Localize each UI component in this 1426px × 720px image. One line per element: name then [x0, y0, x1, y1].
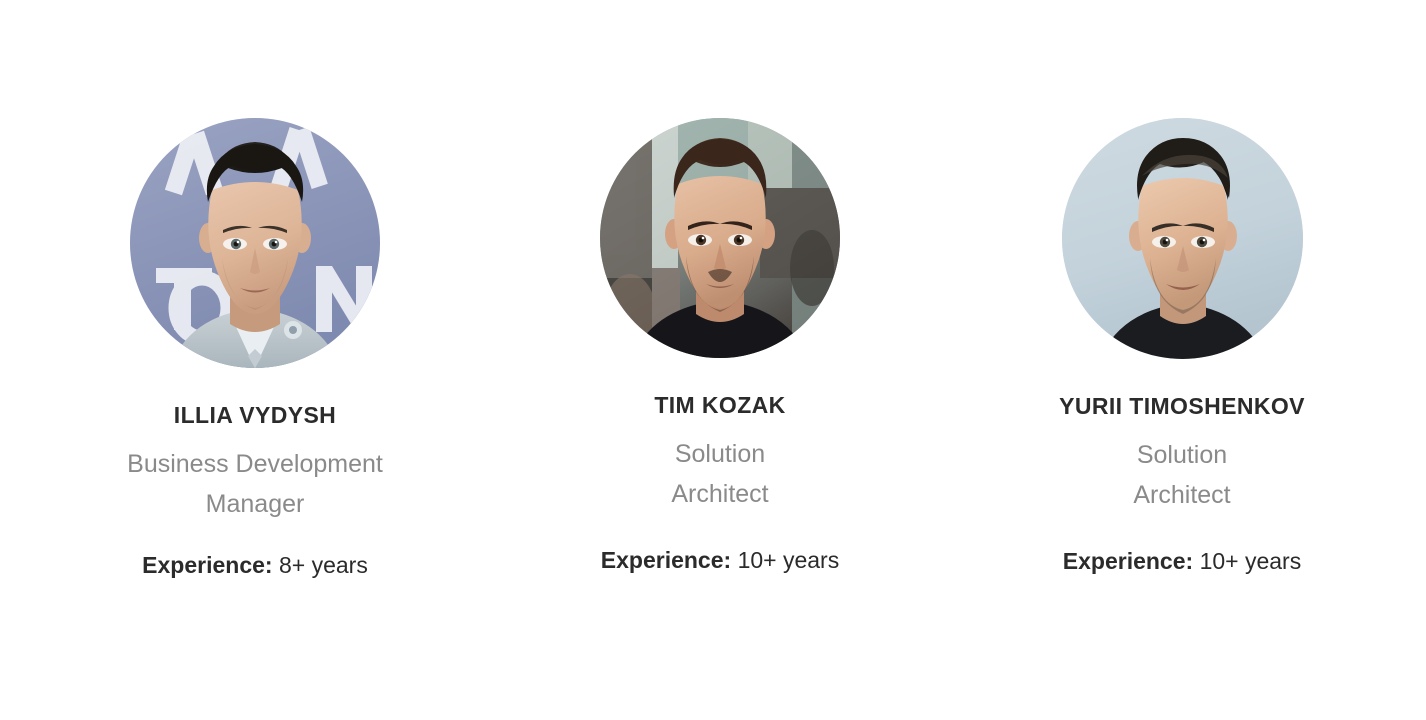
avatar: [1062, 118, 1303, 359]
member-role-line: Business Development: [55, 444, 455, 484]
experience-label: Experience:: [601, 547, 731, 573]
member-role-line: Manager: [55, 484, 455, 524]
member-role-line: Solution: [520, 434, 920, 474]
member-role: Solution Architect: [520, 434, 920, 514]
avatar: [600, 118, 840, 358]
experience-value: 10+ years: [738, 547, 840, 573]
member-name: ILLIA VYDYSH: [55, 402, 455, 430]
avatar-photo-yurii-timoshenkov: [1062, 118, 1303, 359]
member-name: TIM KOZAK: [520, 392, 920, 420]
team-members-section: ILLIA VYDYSH Business Development Manage…: [0, 0, 1426, 720]
member-role-line: Solution: [982, 435, 1382, 475]
experience-label: Experience:: [1063, 548, 1193, 574]
avatar-photo-tim-kozak: [600, 118, 840, 358]
member-experience: Experience: 10+ years: [520, 547, 920, 575]
member-experience: Experience: 10+ years: [982, 548, 1382, 576]
member-role-line: Architect: [520, 474, 920, 514]
member-role: Business Development Manager: [55, 444, 455, 524]
experience-value: 10+ years: [1200, 548, 1302, 574]
team-member-card: ILLIA VYDYSH Business Development Manage…: [55, 118, 455, 579]
member-role: Solution Architect: [982, 435, 1382, 515]
team-member-card: TIM KOZAK Solution Architect Experience:…: [520, 118, 920, 574]
team-member-card: YURII TIMOSHENKOV Solution Architect Exp…: [982, 118, 1382, 575]
avatar-photo-illia-vydysh: [130, 118, 380, 368]
avatar: [130, 118, 380, 368]
member-experience: Experience: 8+ years: [55, 552, 455, 580]
member-name: YURII TIMOSHENKOV: [982, 393, 1382, 421]
experience-label: Experience:: [142, 552, 272, 578]
experience-value: 8+ years: [279, 552, 368, 578]
member-role-line: Architect: [982, 475, 1382, 515]
